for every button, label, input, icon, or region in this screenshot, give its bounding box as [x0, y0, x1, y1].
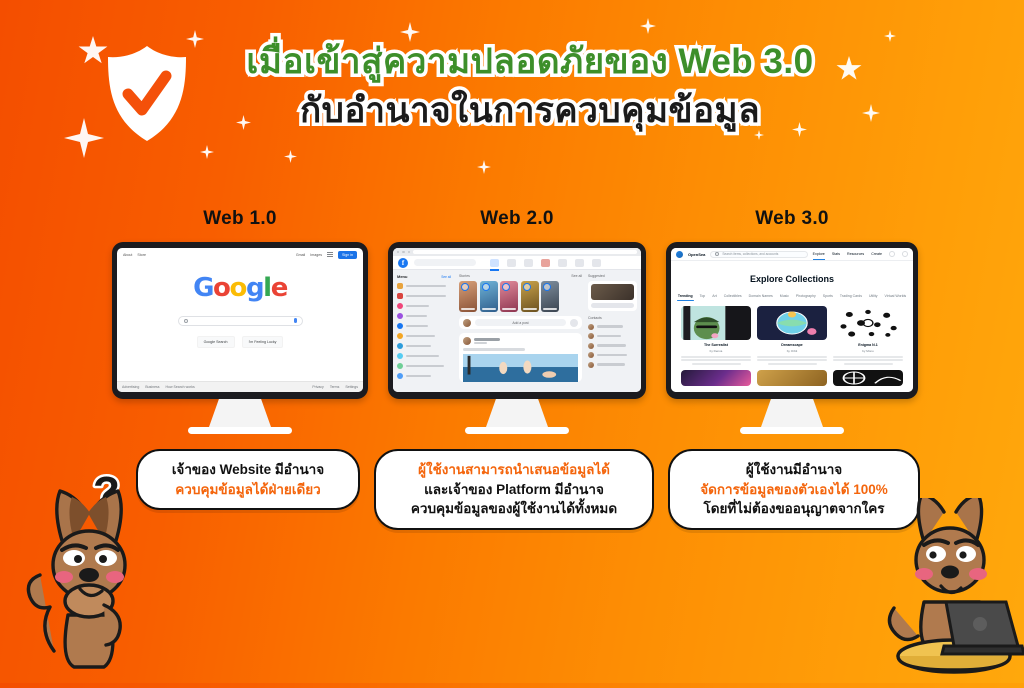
card-author: by Orbit — [757, 349, 827, 353]
column-web3: Web 3.0 OpenSea Search items, collection… — [666, 208, 918, 434]
card-author: by Denva — [681, 349, 751, 353]
story-item[interactable] — [459, 281, 477, 312]
sidebar-see-all[interactable]: See all — [441, 275, 451, 279]
category-tab-7[interactable]: Sports — [823, 294, 833, 298]
collection-card-image[interactable] — [757, 370, 827, 386]
collection-card[interactable]: Dreamscape by Orbit — [757, 306, 827, 365]
facebook-tabs — [490, 259, 601, 267]
contact-avatar — [588, 352, 594, 358]
sidebar-item-label — [406, 315, 427, 318]
facebook-feed: Stories See all Add a post — [455, 270, 586, 392]
google-nav-gmail[interactable]: Gmail — [296, 253, 305, 257]
facebook-topbar: f — [393, 256, 641, 270]
ad-cta-button[interactable] — [591, 303, 634, 308]
contact-name — [597, 354, 627, 357]
post-composer[interactable]: Add a post — [459, 316, 582, 329]
bubble-line: ผู้ใช้งานมีอำนาจ — [684, 460, 904, 480]
nav-resources[interactable]: Resources — [847, 252, 864, 256]
sidebar-item-icon — [397, 343, 403, 349]
category-tab-0[interactable]: Trending — [678, 294, 693, 298]
sidebar-item-4[interactable] — [397, 323, 451, 329]
category-tab-6[interactable]: Photography — [796, 294, 816, 298]
header: เมื่อเข้าสู่ความปลอดภัยของ Web 3.0 กับอำ… — [0, 0, 1024, 185]
tab-groups[interactable] — [541, 259, 550, 267]
stories-see-all[interactable]: See all — [571, 274, 582, 278]
url-field[interactable] — [413, 250, 637, 255]
card-image — [833, 306, 903, 340]
sidebar-item-icon — [397, 333, 403, 339]
category-tab-3[interactable]: Collectibles — [724, 294, 742, 298]
nav-create[interactable]: Create — [871, 252, 882, 256]
contact-avatar — [588, 362, 594, 368]
sidebar-item-icon — [397, 283, 403, 289]
column-web2: Web 2.0 f — [388, 208, 646, 434]
magnifier-icon — [184, 319, 188, 323]
google-logo: Google — [193, 273, 287, 303]
category-tab-9[interactable]: Utility — [869, 294, 878, 298]
avatar — [463, 319, 471, 327]
bubble-web2: ผู้ใช้งานสามารถนำเสนอข้อมูลได้ และเจ้าขอ… — [374, 449, 654, 530]
story-item[interactable] — [480, 281, 498, 312]
sidebar-item-9[interactable] — [397, 373, 451, 379]
column-label-web3: Web 3.0 — [666, 208, 918, 230]
sidebar-item-7[interactable] — [397, 353, 451, 359]
sidebar-item-2[interactable] — [397, 303, 451, 309]
opensea-card-grid: The Surrealist by Denva — [671, 298, 913, 365]
contact-avatar — [588, 333, 594, 339]
collection-card-image[interactable] — [681, 370, 751, 386]
collection-card-image[interactable] — [833, 370, 903, 386]
footer-advertising[interactable]: Advertising — [122, 385, 139, 389]
wallet-icon[interactable] — [902, 251, 908, 257]
profile-icon[interactable] — [889, 251, 895, 257]
bubble-line: โดยที่ไม่ต้องขออนุญาตจากใคร — [684, 499, 904, 519]
story-item[interactable] — [541, 281, 559, 312]
footer-terms[interactable]: Terms — [330, 385, 340, 389]
bubble-web3: ผู้ใช้งานมีอำนาจ จัดการข้อมูลของตัวเองได… — [668, 449, 920, 530]
stories-header: Stories See all — [459, 274, 582, 278]
opensea-logo-icon[interactable] — [676, 251, 683, 258]
contact-name — [597, 325, 623, 328]
sidebar-item-icon — [397, 373, 403, 379]
monitor-stand-base — [188, 427, 292, 434]
monitor-stand-base — [465, 427, 569, 434]
tab-marketplace[interactable] — [524, 259, 533, 267]
sidebar-item-icon — [397, 293, 403, 299]
footer-how-search-works[interactable]: How Search works — [166, 385, 195, 389]
nav-explore[interactable]: Explore — [813, 252, 825, 256]
reload-icon[interactable] — [408, 251, 410, 253]
collection-card[interactable]: The Surrealist by Denva — [681, 306, 751, 365]
forward-icon[interactable] — [402, 251, 404, 253]
google-nav-store[interactable]: Store — [137, 253, 146, 257]
title-line-2: กับอำนาจในการควบคุมข้อมูล — [180, 91, 880, 130]
card-description — [681, 356, 751, 366]
collection-card[interactable]: Enigma N.1 by Mono — [833, 306, 903, 365]
contact-name — [597, 335, 621, 338]
contact-item[interactable] — [588, 362, 637, 368]
post-image[interactable] — [463, 354, 578, 382]
category-tab-2[interactable]: Art — [712, 294, 716, 298]
footer-settings[interactable]: Settings — [345, 385, 358, 389]
card-author: by Mono — [833, 349, 903, 353]
contact-item[interactable] — [588, 343, 637, 349]
sidebar-item-icon — [397, 353, 403, 359]
monitor-stand — [209, 399, 271, 427]
facebook-rightbar: Suggested Contacts — [586, 270, 641, 392]
facebook-search-input[interactable] — [414, 259, 476, 266]
title-line-1: เมื่อเข้าสู่ความปลอดภัยของ Web 3.0 — [180, 42, 880, 81]
bubble-line: ผู้ใช้งานสามารถนำเสนอข้อมูลได้ — [390, 460, 638, 480]
stories-title: Stories — [459, 274, 470, 278]
browser-urlbar — [393, 248, 641, 256]
google-nav-about[interactable]: About — [123, 253, 132, 257]
post-author — [474, 338, 500, 341]
sidebar-title: Menu — [397, 274, 407, 279]
sidebar-item-6[interactable] — [397, 343, 451, 349]
search-placeholder: Search items, collections, and accounts — [722, 252, 778, 256]
card-name: Dreamscape — [757, 343, 827, 347]
screen-google: About Store Gmail Images Sign in Google — [117, 248, 363, 392]
suggested-header: Suggested — [588, 274, 637, 278]
opensea-search-input[interactable]: Search items, collections, and accounts — [710, 251, 807, 258]
sidebar-item-label — [406, 335, 435, 338]
tab-video[interactable] — [507, 259, 516, 267]
contact-avatar — [588, 324, 594, 330]
card-name: The Surrealist — [681, 343, 751, 347]
sidebar-item-5[interactable] — [397, 333, 451, 339]
category-tab-8[interactable]: Trading Cards — [840, 294, 862, 298]
column-label-web1: Web 1.0 — [112, 208, 368, 230]
tab-home[interactable] — [490, 259, 499, 267]
tab-gaming[interactable] — [558, 259, 567, 267]
facebook-app: f — [393, 248, 641, 392]
contact-item[interactable] — [588, 352, 637, 358]
card-image — [757, 306, 827, 340]
google-nav-images[interactable]: Images — [310, 253, 322, 257]
suggested-ad[interactable] — [588, 281, 637, 311]
back-icon[interactable] — [397, 251, 399, 253]
facebook-logo-icon[interactable]: f — [398, 258, 408, 268]
microphone-icon[interactable] — [294, 318, 297, 323]
bubble-line: เจ้าของ Website มีอำนาจ — [152, 460, 344, 480]
column-label-web2: Web 2.0 — [388, 208, 646, 230]
sidebar-item-icon — [397, 313, 403, 319]
footer-business[interactable]: Business — [145, 385, 159, 389]
bubble-line: จัดการข้อมูลของตัวเองได้ 100% — [684, 480, 904, 500]
google-body: Google Google Search I'm Feeling Lucky — [117, 261, 363, 359]
card-name: Enigma N.1 — [833, 343, 903, 347]
google-nav: About Store Gmail Images Sign in — [117, 248, 363, 261]
opensea-brand[interactable]: OpenSea — [688, 252, 705, 257]
screen-opensea: OpenSea Search items, collections, and a… — [671, 248, 913, 392]
monitor-stand — [486, 399, 548, 427]
sidebar-item-1[interactable] — [397, 293, 451, 299]
category-tab-5[interactable]: Music — [780, 294, 789, 298]
monitor-web3: OpenSea Search items, collections, and a… — [666, 242, 918, 434]
sidebar-item-label — [406, 285, 446, 288]
tab-notifications[interactable] — [592, 259, 601, 267]
opensea-heading: Explore Collections — [671, 274, 913, 284]
stories-row — [459, 281, 582, 312]
post-avatar — [463, 337, 471, 345]
feeling-lucky-button[interactable]: I'm Feeling Lucky — [242, 336, 284, 348]
column-web1: Web 1.0 About Store Gmail Images Sign in — [112, 208, 368, 434]
laptop-icon — [942, 602, 1024, 654]
grid-apps-icon[interactable] — [327, 252, 333, 258]
sidebar-item-label — [406, 355, 439, 358]
monitor-stand-base — [740, 427, 844, 434]
monitor-web2: f — [388, 242, 646, 434]
footer-privacy[interactable]: Privacy — [312, 385, 323, 389]
opensea-card-grid-row2 — [671, 365, 913, 386]
sidebar-item-8[interactable] — [397, 363, 451, 369]
dog-thinking-mascot: ? — [18, 455, 158, 670]
nav-stats[interactable]: Stats — [832, 252, 840, 256]
contact-name — [597, 344, 626, 347]
magnifier-icon — [715, 252, 719, 256]
sidebar-item-label — [406, 295, 446, 298]
google-search-button[interactable]: Google Search — [197, 336, 235, 348]
sidebar-item-label — [406, 345, 431, 348]
opensea-topbar: OpenSea Search items, collections, and a… — [671, 248, 913, 261]
composer-placeholder: Add a post — [512, 321, 528, 325]
facebook-main: Menu See all Stories See all — [393, 270, 641, 392]
monitor-web1: About Store Gmail Images Sign in Google — [112, 242, 368, 434]
sidebar-header: Menu See all — [397, 274, 451, 279]
sidebar-item-3[interactable] — [397, 313, 451, 319]
sidebar-item-icon — [397, 303, 403, 309]
card-description — [833, 356, 903, 366]
facebook-sidebar: Menu See all — [393, 270, 455, 392]
post-header — [463, 337, 578, 345]
story-item[interactable] — [521, 281, 539, 312]
composer-input[interactable]: Add a post — [475, 319, 566, 326]
dog-laptop-mascot — [884, 498, 1024, 683]
monitor-bezel: f — [388, 242, 646, 399]
google-buttons: Google Search I'm Feeling Lucky — [197, 336, 284, 348]
sidebar-item-icon — [397, 363, 403, 369]
sidebar-item-label — [406, 305, 429, 308]
google-footer: Advertising Business How Search works Pr… — [117, 381, 363, 392]
contacts-title: Contacts — [588, 316, 602, 320]
contacts-header: Contacts — [588, 316, 637, 320]
category-tab-4[interactable]: Domain Names — [749, 294, 773, 298]
contact-name — [597, 363, 625, 366]
contact-item[interactable] — [588, 324, 637, 330]
infographic-stage: เมื่อเข้าสู่ความปลอดภัยของ Web 3.0 กับอำ… — [0, 0, 1024, 683]
sidebar-item-label — [406, 375, 431, 378]
tab-menu[interactable] — [575, 259, 584, 267]
opensea-nav: Explore Stats Resources Create — [813, 251, 908, 257]
card-image — [681, 306, 751, 340]
sidebar-item-label — [406, 325, 428, 328]
ad-image — [591, 284, 634, 300]
monitor-bezel: OpenSea Search items, collections, and a… — [666, 242, 918, 399]
contact-item[interactable] — [588, 333, 637, 339]
google-signin-button[interactable]: Sign in — [338, 251, 357, 259]
story-item[interactable] — [500, 281, 518, 312]
category-tab-10[interactable]: Virtual Worlds — [885, 294, 907, 298]
bubble-line: ควบคุมข้อมูลของผู้ใช้งานได้ทั้งหมด — [390, 499, 638, 519]
photo-icon[interactable] — [570, 319, 578, 327]
suggested-title: Suggested — [588, 274, 605, 278]
monitor-bezel: About Store Gmail Images Sign in Google — [112, 242, 368, 399]
sidebar-item-icon — [397, 323, 403, 329]
sidebar-item-label — [406, 365, 444, 368]
opensea-app: OpenSea Search items, collections, and a… — [671, 248, 913, 392]
contact-avatar — [588, 343, 594, 349]
screen-facebook: f — [393, 248, 641, 392]
bubble-web1: เจ้าของ Website มีอำนาจ ควบคุมข้อมูลได้ฝ… — [136, 449, 360, 510]
post-timestamp — [474, 342, 487, 344]
google-search-input[interactable] — [178, 316, 303, 326]
sidebar-item-0[interactable] — [397, 283, 451, 289]
bubble-line: ควบคุมข้อมูลได้ฝ่ายเดียว — [152, 480, 344, 500]
bubble-line: และเจ้าของ Platform มีอำนาจ — [390, 480, 638, 500]
feed-post — [459, 333, 582, 382]
page-title: เมื่อเข้าสู่ความปลอดภัยของ Web 3.0 กับอำ… — [180, 42, 880, 130]
shield-check-icon — [104, 44, 190, 144]
post-text — [463, 348, 525, 351]
monitor-stand — [761, 399, 823, 427]
category-tab-1[interactable]: Top — [700, 294, 706, 298]
card-description — [757, 356, 827, 366]
